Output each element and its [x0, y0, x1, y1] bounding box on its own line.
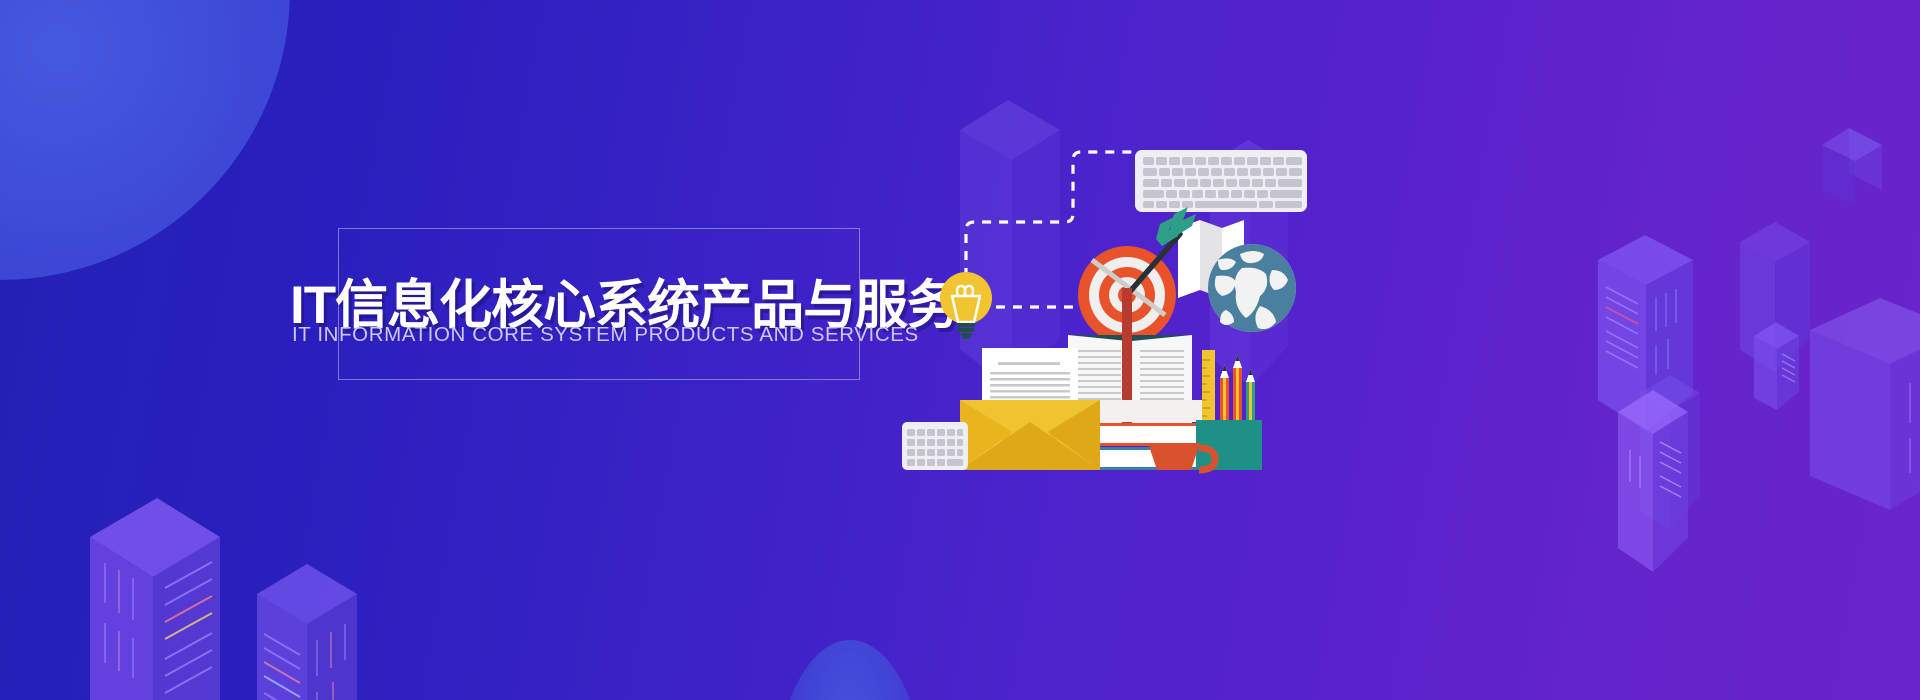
bottom-center-glow-circle	[775, 640, 925, 700]
it-services-hero-banner: IT信息化核心系统产品与服务 IT INFORMATION CORE SYSTE…	[0, 0, 1920, 700]
envelope-icon	[960, 400, 1100, 470]
it-education-workspace-illustration	[900, 110, 1320, 480]
pencil-cup-icon	[1196, 420, 1262, 470]
iso-building-right-bottom	[1618, 390, 1728, 610]
globe-icon	[1208, 244, 1296, 332]
top-left-glow-circle	[0, 0, 290, 280]
hero-text-block: IT信息化核心系统产品与服务 IT INFORMATION CORE SYSTE…	[338, 228, 860, 380]
keyboard-icon	[1135, 150, 1307, 212]
second-keyboard-icon	[902, 422, 968, 470]
iso-building-left-tall	[90, 495, 270, 700]
lightbulb-icon	[940, 272, 992, 339]
page-subtitle: IT INFORMATION CORE SYSTEM PRODUCTS AND …	[292, 323, 912, 347]
iso-building-far-right	[1810, 298, 1920, 548]
iso-building-left-short	[257, 562, 397, 700]
